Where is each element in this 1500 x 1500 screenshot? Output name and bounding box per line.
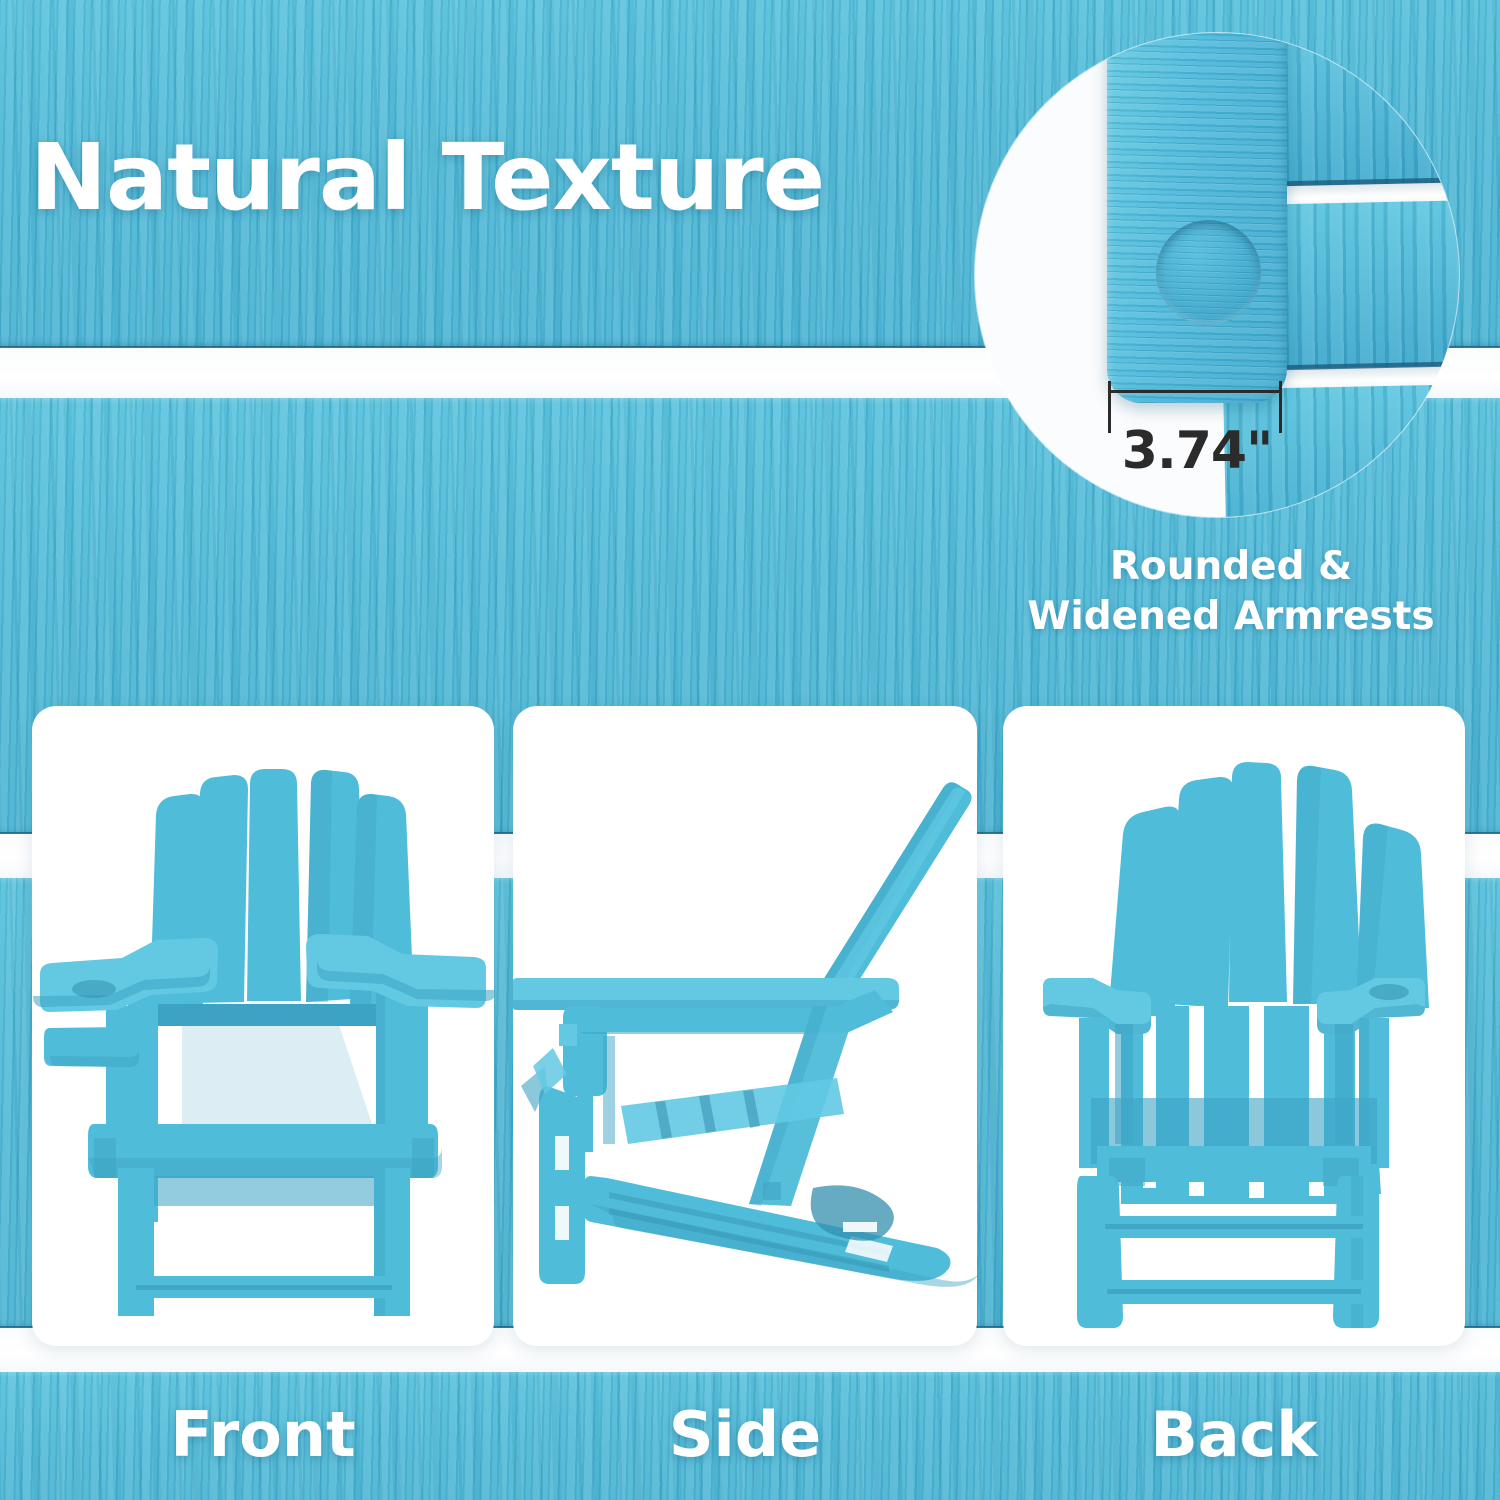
armrest-detail xyxy=(1107,33,1287,403)
page-title: Natural Texture xyxy=(30,132,824,224)
product-feature-image: Natural Texture 3.74" Rounded & Widened … xyxy=(0,0,1500,1500)
view-label-side: Side xyxy=(513,1398,977,1471)
callout-caption: Rounded & Widened Armrests xyxy=(1000,542,1462,642)
chair-view-card-back xyxy=(1003,706,1465,1346)
cup-holder-icon xyxy=(1156,220,1261,325)
chair-back-icon xyxy=(1003,706,1465,1346)
view-label-back: Back xyxy=(1003,1398,1465,1471)
magnifier-callout: 3.74" xyxy=(975,33,1459,517)
chair-front-icon xyxy=(32,706,494,1346)
chair-side-icon xyxy=(513,706,977,1346)
dimension-value: 3.74" xyxy=(1107,421,1287,481)
chair-view-card-front xyxy=(32,706,494,1346)
callout-caption-line1: Rounded & xyxy=(1110,544,1352,589)
magnified-content: 3.74" xyxy=(975,33,1459,517)
view-label-front: Front xyxy=(32,1398,494,1471)
chair-view-card-side xyxy=(513,706,977,1346)
dimension-bar xyxy=(1108,390,1282,393)
callout-caption-line2: Widened Armrests xyxy=(1000,592,1462,642)
